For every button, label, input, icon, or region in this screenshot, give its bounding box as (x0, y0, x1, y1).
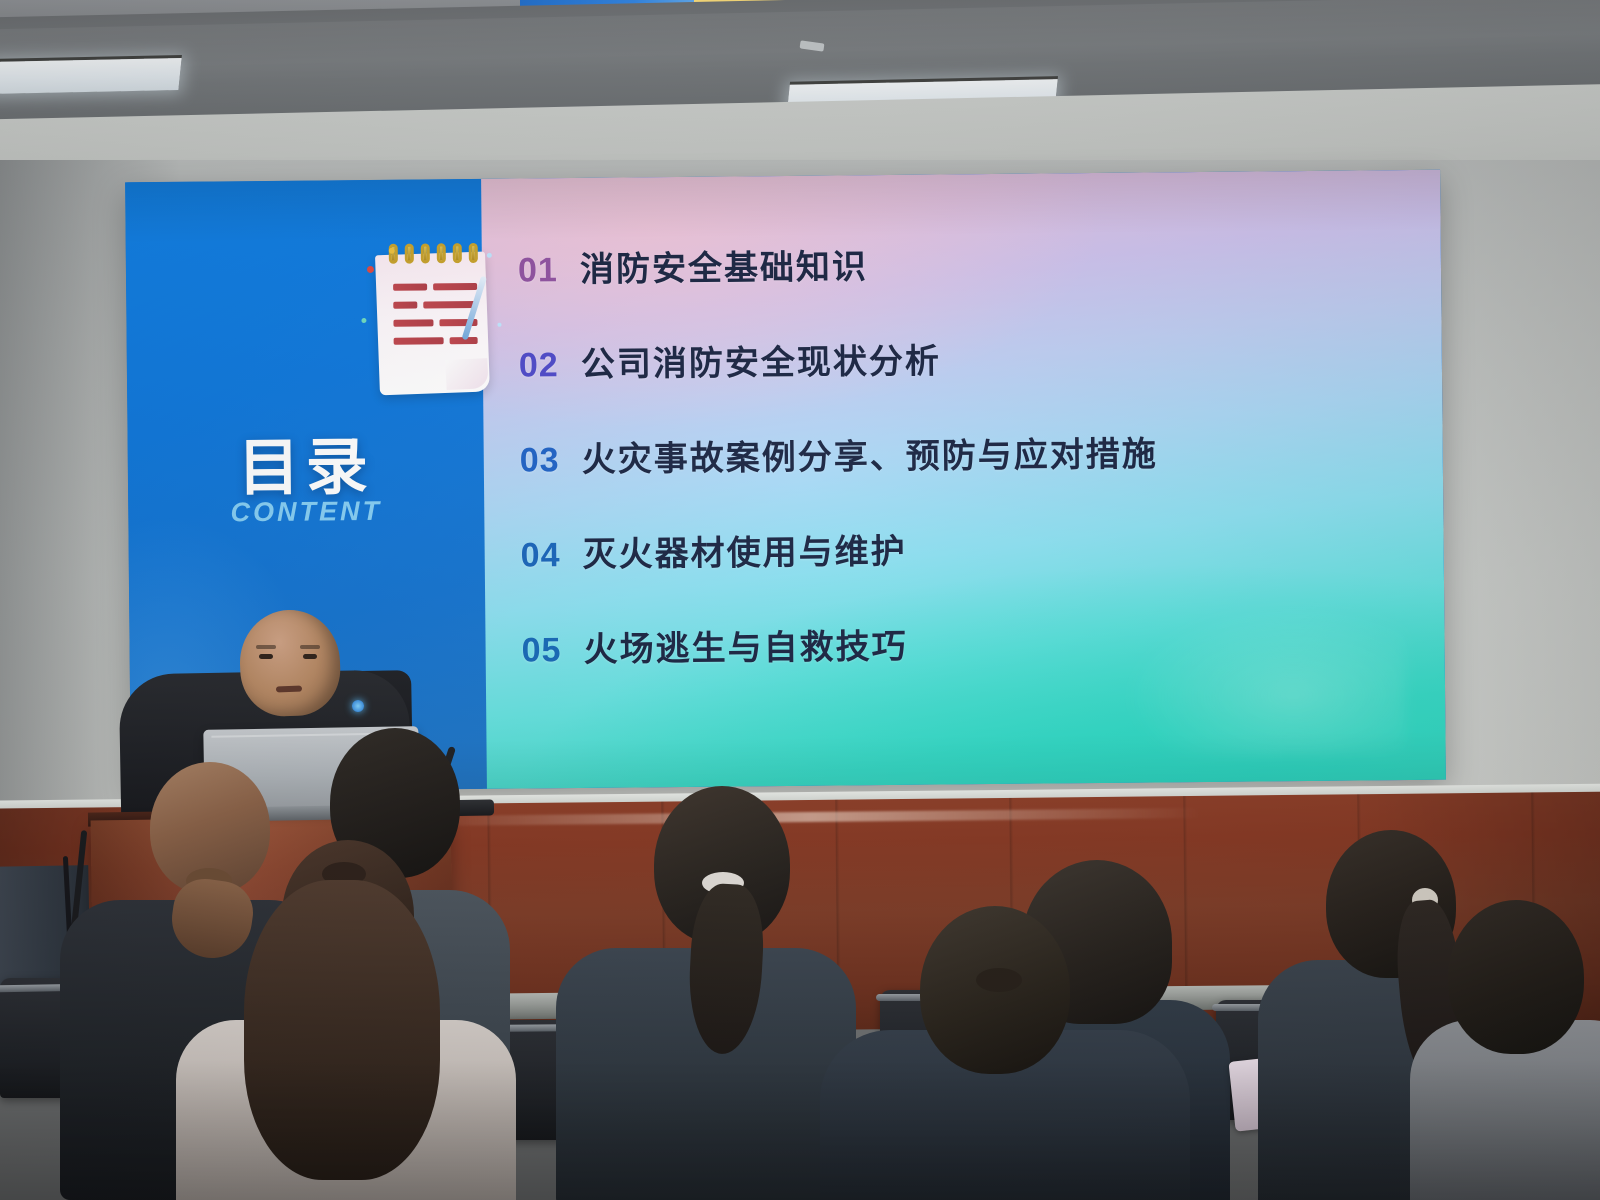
agenda-label: 火场逃生与自救技巧 (583, 619, 907, 671)
agenda-label: 公司消防安全现状分析 (581, 334, 941, 386)
slide-left-title: 目录 (127, 415, 484, 508)
agenda-number: 02 (519, 346, 581, 386)
presenter-badge-light (352, 700, 364, 712)
agenda-number: 03 (520, 441, 582, 481)
conference-room-scene: 目录 CONTENT 01 消防安全基础知识 02 公司消防安全现状分析 03 … (0, 0, 1600, 1200)
presenter-eye-left (259, 654, 273, 659)
agenda-item: 04 灭火器材使用与维护 (520, 519, 1420, 577)
presenter-brow-left (256, 645, 276, 649)
screen-glare (1124, 604, 1405, 757)
presenter-mouth (276, 686, 302, 693)
recessed-light-panel-left (0, 58, 182, 94)
agenda-label: 火灾事故案例分享、预防与应对措施 (582, 426, 1158, 481)
agenda-item: 01 消防安全基础知识 (518, 234, 1418, 292)
slide-left-subtitle: CONTENT (128, 495, 484, 529)
notepad-icon (359, 231, 511, 402)
agenda-number: 04 (521, 536, 583, 576)
agenda-number: 05 (521, 631, 583, 671)
agenda-item: 03 火灾事故案例分享、预防与应对措施 (520, 424, 1420, 482)
agenda-label: 灭火器材使用与维护 (582, 524, 906, 576)
presenter-eye-right (303, 654, 317, 659)
agenda-item: 02 公司消防安全现状分析 (519, 329, 1419, 387)
presenter-brow-right (300, 645, 320, 649)
agenda-number: 01 (518, 251, 580, 291)
agenda-label: 消防安全基础知识 (580, 239, 868, 291)
